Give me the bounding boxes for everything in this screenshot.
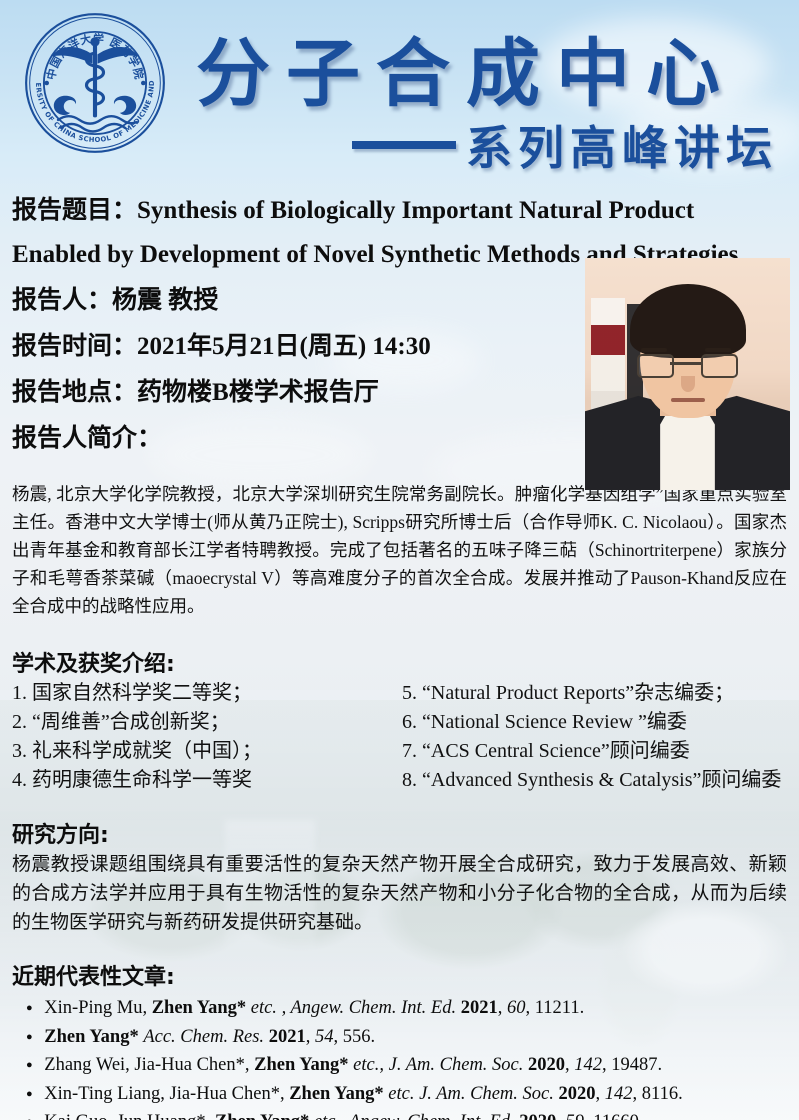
pub-journal: , Angew. Chem. Int. Ed.	[282, 998, 461, 1018]
award-item: 5. “Natural Product Reports”杂志编委；	[402, 679, 781, 708]
pub-page: 8116.	[642, 1084, 683, 1104]
pub-etc: etc.	[349, 1055, 380, 1075]
pub-volume: 54	[315, 1027, 334, 1047]
pub-year: 2021	[269, 1027, 306, 1047]
university-seal-icon: 中国海洋大学 医药学院 OCEAN UNIVERSITY OF CHINA SC…	[24, 12, 166, 154]
speaker-value: 杨震 教授	[112, 287, 218, 314]
pub-page: 11211.	[535, 998, 585, 1018]
pub-highlight-author: Zhen Yang*	[44, 1027, 138, 1047]
pub-page: 556.	[343, 1027, 375, 1047]
pub-authors: Kai Guo, Jun Huang*,	[44, 1112, 215, 1120]
pub-etc: etc.	[309, 1112, 340, 1120]
pub-etc: etc.	[384, 1084, 419, 1104]
pub-year: 2021	[461, 998, 498, 1018]
pub-year: 2020	[559, 1084, 596, 1104]
seminar-poster: 中国海洋大学 医药学院 OCEAN UNIVERSITY OF CHINA SC…	[0, 0, 799, 1120]
award-item: 3. 礼来科学成就奖（中国）；	[12, 737, 402, 766]
talk-title-line1: 报告题目：Synthesis of Biologically Important…	[12, 190, 787, 232]
poster-content: 报告题目：Synthesis of Biologically Important…	[0, 190, 799, 1120]
pub-volume: 59	[566, 1112, 585, 1120]
pub-journal: J. Am. Chem. Soc.	[419, 1084, 558, 1104]
pub-page: 11660.	[593, 1112, 643, 1120]
pub-volume: 142	[605, 1084, 633, 1104]
publication-item: Xin-Ting Liang, Jia-Hua Chen*, Zhen Yang…	[12, 1080, 787, 1109]
poster-header: 中国海洋大学 医药学院 OCEAN UNIVERSITY OF CHINA SC…	[0, 0, 799, 190]
pub-etc: etc.	[246, 998, 281, 1018]
pub-authors: Xin-Ting Liang, Jia-Hua Chen*,	[44, 1084, 289, 1104]
speaker-biography: 杨震, 北京大学化学院教授，北京大学深圳研究生院常务副院长。肿瘤化学基因组学”国…	[12, 480, 787, 620]
awards-heading: 学术及获奖介绍:	[12, 646, 787, 678]
award-item: 6. “National Science Review ”编委	[402, 708, 781, 737]
research-heading: 研究方向:	[12, 817, 787, 849]
talk-title-label: 报告题目：	[12, 197, 137, 224]
pub-authors: Xin-Ping Mu,	[44, 998, 151, 1018]
pub-highlight-author: Zhen Yang*	[254, 1055, 348, 1075]
pub-journal: Acc. Chem. Res.	[143, 1027, 268, 1047]
award-item: 7. “ACS Central Science”顾问编委	[402, 737, 781, 766]
award-item: 2. “周维善”合成创新奖；	[12, 708, 402, 737]
em-dash-rule	[352, 141, 456, 149]
publication-item: Zhang Wei, Jia-Hua Chen*, Zhen Yang* etc…	[12, 1051, 787, 1080]
banner-subtitle-group: 系列高峰讲坛	[352, 112, 778, 178]
pub-authors: Zhang Wei, Jia-Hua Chen*,	[44, 1055, 254, 1075]
award-item: 4. 药明康德生命科学一等奖	[12, 766, 402, 795]
publication-item: Xin-Ping Mu, Zhen Yang* etc. , Angew. Ch…	[12, 994, 787, 1023]
publications-list: Xin-Ping Mu, Zhen Yang* etc. , Angew. Ch…	[12, 994, 787, 1120]
awards-columns: 1. 国家自然科学奖二等奖； 2. “周维善”合成创新奖； 3. 礼来科学成就奖…	[12, 679, 787, 795]
pub-journal: , J. Am. Chem. Soc.	[379, 1055, 528, 1075]
research-description: 杨震教授课题组围绕具有重要活性的复杂天然产物开展全合成研究，致力于发展高效、新颖…	[12, 850, 787, 937]
pub-highlight-author: Zhen Yang*	[289, 1084, 383, 1104]
publications-heading: 近期代表性文章:	[12, 959, 787, 991]
pub-journal: , Angew. Chem. Int. Ed.	[340, 1112, 519, 1120]
award-item: 1. 国家自然科学奖二等奖；	[12, 679, 402, 708]
pub-volume: 142	[574, 1055, 602, 1075]
speaker-label: 报告人：	[12, 287, 112, 314]
publication-item: Zhen Yang* Acc. Chem. Res. 2021, 54, 556…	[12, 1023, 787, 1052]
pub-year: 2020	[528, 1055, 565, 1075]
pub-highlight-author: Zhen Yang*	[152, 998, 246, 1018]
publication-item: Kai Guo, Jun Huang*, Zhen Yang* etc., An…	[12, 1108, 787, 1120]
speaker-photo	[585, 258, 790, 490]
pub-volume: 60	[507, 998, 526, 1018]
awards-column-right: 5. “Natural Product Reports”杂志编委； 6. “Na…	[402, 679, 781, 795]
award-item: 8. “Advanced Synthesis & Catalysis”顾问编委	[402, 766, 781, 795]
pub-year: 2020	[519, 1112, 556, 1120]
time-value: 2021年5月21日(周五) 14:30	[137, 333, 431, 360]
time-label: 报告时间：	[12, 333, 137, 360]
place-value: 药物楼B楼学术报告厅	[137, 379, 379, 406]
talk-title-text-1: Synthesis of Biologically Important Natu…	[137, 197, 694, 224]
pub-page: 19487.	[611, 1055, 662, 1075]
place-label: 报告地点：	[12, 379, 137, 406]
pub-highlight-author: Zhen Yang*	[215, 1112, 309, 1120]
banner-title: 分子合成中心	[196, 14, 736, 121]
awards-column-left: 1. 国家自然科学奖二等奖； 2. “周维善”合成创新奖； 3. 礼来科学成就奖…	[12, 679, 402, 795]
banner-subtitle: 系列高峰讲坛	[466, 112, 778, 178]
